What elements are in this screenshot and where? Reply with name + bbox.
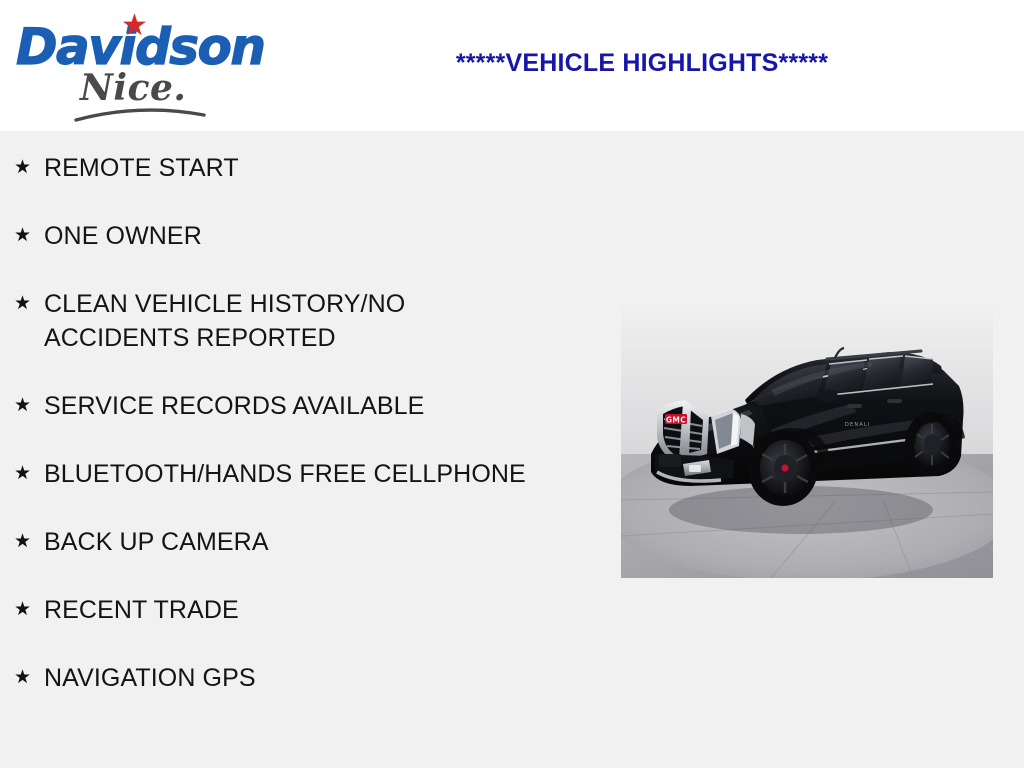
list-item: ★ NAVIGATION GPS [0, 661, 560, 695]
logo-swoosh-underline [74, 106, 206, 124]
list-item: ★ BACK UP CAMERA [0, 525, 560, 559]
star-bullet-icon: ★ [14, 593, 44, 627]
star-bullet-icon: ★ [14, 389, 44, 423]
star-bullet-icon: ★ [14, 219, 44, 253]
list-item: ★ REMOTE START [0, 151, 560, 185]
list-item-label: SERVICE RECORDS AVAILABLE [44, 389, 550, 423]
list-item-label: RECENT TRADE [44, 593, 550, 627]
svg-text:DENALI: DENALI [845, 422, 871, 428]
list-item-label: BACK UP CAMERA [44, 525, 550, 559]
vehicle-highlights-list: ★ REMOTE START ★ ONE OWNER ★ CLEAN VEHIC… [0, 131, 560, 729]
vehicle-photo[interactable]: GMC DENALI [621, 304, 993, 578]
list-item: ★ ONE OWNER [0, 219, 560, 253]
logo-star-icon: ★ [121, 13, 147, 39]
list-item-label: REMOTE START [44, 151, 550, 185]
page-title: *****VEHICLE HIGHLIGHTS***** [0, 49, 1024, 78]
star-bullet-icon: ★ [14, 457, 44, 491]
header-bar: Davidson ★ Nice. *****VEHICLE HIGHLIGHTS… [0, 0, 1024, 131]
star-bullet-icon: ★ [14, 151, 44, 185]
star-bullet-icon: ★ [14, 661, 44, 695]
star-bullet-icon: ★ [14, 525, 44, 559]
front-wheel [748, 430, 818, 506]
list-item-label: NAVIGATION GPS [44, 661, 550, 695]
list-item: ★ BLUETOOTH/HANDS FREE CELLPHONE [0, 457, 560, 491]
svg-text:GMC: GMC [666, 416, 686, 425]
list-item: ★ CLEAN VEHICLE HISTORY/NO ACCIDENTS REP… [0, 287, 560, 355]
list-item-label: ONE OWNER [44, 219, 550, 253]
list-item-label: CLEAN VEHICLE HISTORY/NO ACCIDENTS REPOR… [44, 287, 550, 355]
star-bullet-icon: ★ [14, 287, 44, 321]
list-item-label: BLUETOOTH/HANDS FREE CELLPHONE [44, 457, 550, 491]
list-item: ★ SERVICE RECORDS AVAILABLE [0, 389, 560, 423]
list-item: ★ RECENT TRADE [0, 593, 560, 627]
vehicle-highlights-slide: Davidson ★ Nice. *****VEHICLE HIGHLIGHTS… [0, 0, 1024, 768]
